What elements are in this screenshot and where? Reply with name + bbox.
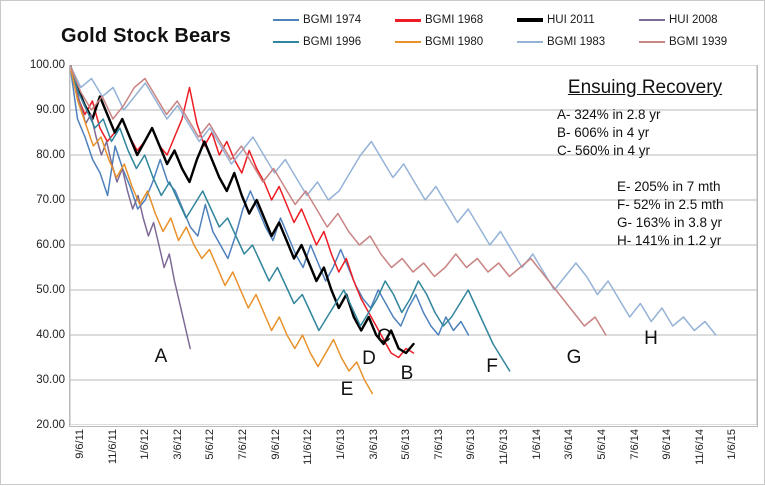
series-line	[70, 65, 510, 371]
legend-item[interactable]: BGMI 1996	[273, 31, 395, 53]
legend-item[interactable]: BGMI 1974	[273, 9, 395, 31]
legend-swatch-icon	[273, 41, 299, 43]
page-title: Gold Stock Bears	[61, 25, 231, 48]
recovery-line: A- 324% in 2.8 yr	[529, 106, 761, 124]
ensuing-recovery-panel: Ensuing Recovery A- 324% in 2.8 yrB- 606…	[529, 77, 761, 250]
recovery-group-right: E- 205% in 7 mthF- 52% in 2.5 mthG- 163%…	[529, 178, 761, 250]
legend-item[interactable]: BGMI 1980	[395, 31, 517, 53]
legend-swatch-icon	[639, 41, 665, 43]
x-axis-tick-label: 3/6/13	[368, 429, 380, 460]
legend-item-label: BGMI 1974	[303, 14, 361, 26]
chart-marker-b: B	[401, 363, 414, 385]
chart-marker-g: G	[567, 347, 582, 369]
chart-legend: BGMI 1974BGMI 1968HUI 2011HUI 2008BGMI 1…	[273, 9, 761, 53]
x-axis-tick-label: 7/6/12	[237, 429, 249, 460]
legend-item-label: BGMI 1939	[669, 36, 727, 48]
x-axis-tick-label: 1/6/15	[726, 429, 738, 460]
x-axis-tick-label: 7/6/14	[629, 429, 641, 460]
chart-marker-f: F	[486, 356, 498, 378]
y-axis-tick-label: 100.00	[9, 59, 65, 71]
x-axis-tick-label: 9/6/13	[465, 429, 477, 460]
legend-item-label: BGMI 1968	[425, 14, 483, 26]
legend-swatch-icon	[395, 19, 421, 22]
x-axis-tick-label: 1/6/13	[335, 429, 347, 460]
x-axis-tick-label: 5/6/14	[596, 429, 608, 460]
chart-frame: Gold Stock Bears BGMI 1974BGMI 1968HUI 2…	[0, 0, 765, 485]
y-axis-tick-label: 20.00	[9, 419, 65, 431]
recovery-line: B- 606% in 4 yr	[529, 124, 761, 142]
series-line	[70, 65, 372, 394]
y-axis-tick-label: 80.00	[9, 149, 65, 161]
x-axis-tick-label: 9/6/14	[661, 429, 673, 460]
legend-swatch-icon	[395, 41, 421, 43]
recovery-spacer	[529, 160, 761, 178]
x-axis-tick-label: 1/6/14	[531, 429, 543, 460]
legend-item[interactable]: HUI 2011	[517, 9, 639, 31]
legend-item-label: HUI 2011	[547, 14, 595, 26]
x-axis-tick-label: 11/6/12	[302, 429, 314, 465]
legend-item-label: BGMI 1996	[303, 36, 361, 48]
x-axis-tick-label: 11/6/14	[694, 429, 706, 465]
legend-item-label: BGMI 1983	[547, 36, 605, 48]
x-axis-tick-label: 9/6/11	[74, 429, 86, 459]
legend-item-label: BGMI 1980	[425, 36, 483, 48]
x-axis-tick-label: 5/6/13	[400, 429, 412, 460]
legend-swatch-icon	[639, 19, 665, 21]
y-axis: 100.0090.0080.0070.0060.0050.0040.0030.0…	[5, 65, 65, 427]
chart-marker-h: H	[644, 328, 658, 350]
chart-marker-a: A	[155, 346, 168, 368]
recovery-line: F- 52% in 2.5 mth	[529, 196, 761, 214]
x-axis-tick-label: 11/6/11	[107, 429, 119, 464]
legend-swatch-icon	[273, 19, 299, 21]
legend-item-label: HUI 2008	[669, 14, 718, 26]
legend-swatch-icon	[517, 18, 543, 22]
x-axis-tick-label: 1/6/12	[139, 429, 151, 460]
recovery-title: Ensuing Recovery	[529, 77, 761, 106]
x-axis-tick-label: 3/6/14	[563, 429, 575, 460]
legend-item[interactable]: BGMI 1939	[639, 31, 761, 53]
x-axis-tick-label: 7/6/13	[433, 429, 445, 460]
recovery-line: C- 560% in 4 yr	[529, 142, 761, 160]
chart-marker-e: E	[341, 379, 354, 401]
recovery-line: H- 141% in 1.2 yr	[529, 232, 761, 250]
y-axis-tick-label: 60.00	[9, 239, 65, 251]
legend-item[interactable]: BGMI 1983	[517, 31, 639, 53]
x-axis-tick-label: 9/6/12	[270, 429, 282, 460]
legend-swatch-icon	[517, 41, 543, 43]
x-axis: 9/6/1111/6/111/6/123/6/125/6/127/6/129/6…	[69, 429, 758, 486]
x-axis-tick-label: 11/6/13	[498, 429, 510, 465]
x-axis-tick-label: 5/6/12	[204, 429, 216, 460]
recovery-line: E- 205% in 7 mth	[529, 178, 761, 196]
recovery-line: G- 163% in 3.8 yr	[529, 214, 761, 232]
recovery-group-left: A- 324% in 2.8 yrB- 606% in 4 yrC- 560% …	[529, 106, 761, 160]
x-axis-tick-label: 3/6/12	[172, 429, 184, 460]
y-axis-tick-label: 70.00	[9, 194, 65, 206]
legend-item[interactable]: HUI 2008	[639, 9, 761, 31]
y-axis-tick-label: 40.00	[9, 329, 65, 341]
y-axis-tick-label: 90.00	[9, 104, 65, 116]
chart-marker-c: C	[377, 326, 391, 348]
y-axis-tick-label: 50.00	[9, 284, 65, 296]
legend-item[interactable]: BGMI 1968	[395, 9, 517, 31]
y-axis-tick-label: 30.00	[9, 374, 65, 386]
chart-marker-d: D	[362, 348, 376, 370]
